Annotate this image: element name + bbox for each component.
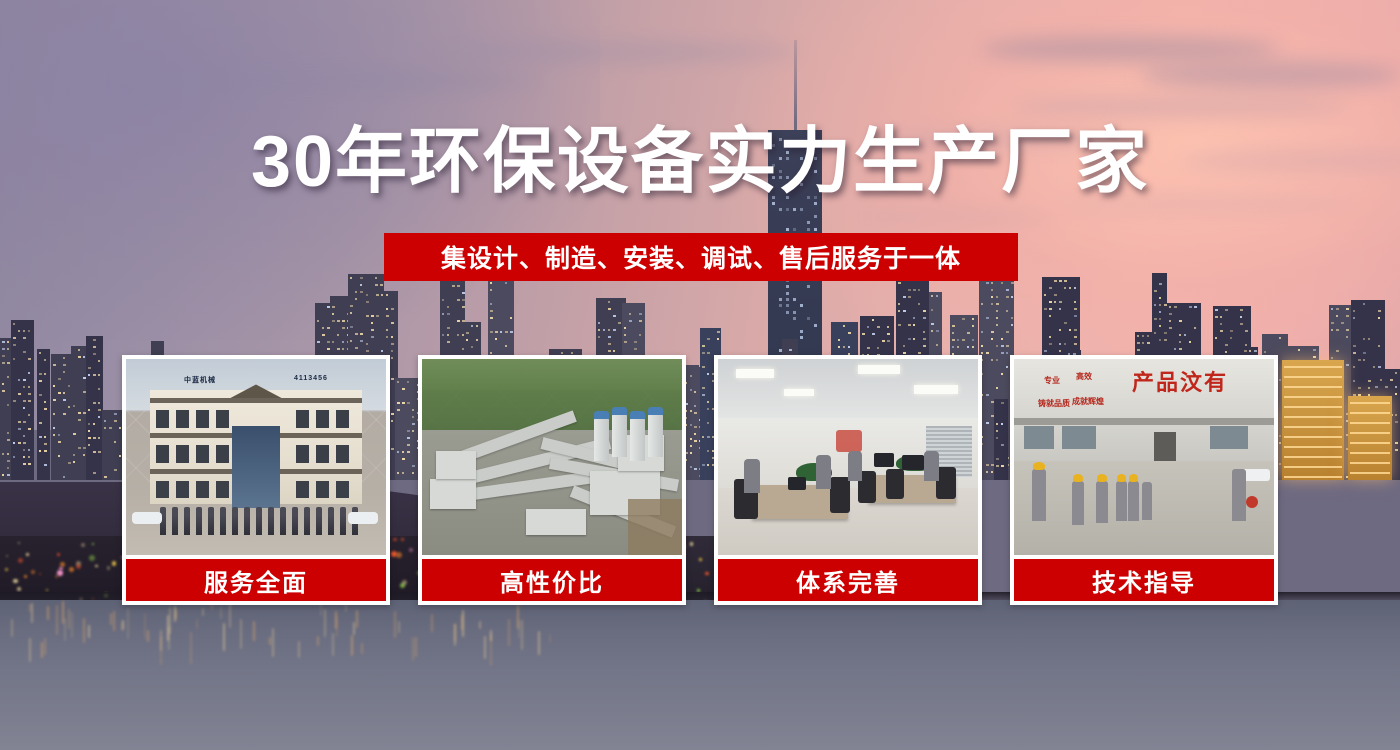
building-window-light [2, 390, 5, 392]
building-window-light [391, 308, 394, 310]
building-window-light [2, 355, 5, 357]
building-window-light [505, 331, 508, 333]
building-window-light [1395, 414, 1397, 416]
building-window-light [1006, 352, 1008, 354]
photo-window [216, 481, 229, 499]
photo-silo [630, 417, 645, 461]
building-window-light [23, 456, 25, 458]
photo-factory-sub-slogan: 成就辉煌 [1072, 396, 1104, 407]
photo-glass-entrance [232, 426, 280, 508]
photo-ceiling-light [784, 389, 814, 396]
building-window-light [23, 463, 26, 465]
building-window-light [613, 350, 615, 352]
card-caption-text: 技术指导 [1092, 563, 1196, 598]
building-window-light [53, 427, 55, 429]
building-window-light [1169, 306, 1171, 308]
building-window-light [495, 331, 498, 333]
building-window-light [1336, 350, 1339, 352]
building-window-light [452, 285, 455, 287]
building-window-light [44, 443, 47, 445]
photo-office-worker [924, 451, 939, 481]
photo-monitor [902, 455, 924, 470]
building-window-light [317, 341, 320, 343]
water-reflection [479, 621, 481, 630]
building-window-light [923, 310, 926, 312]
tower-window-light [814, 324, 817, 327]
photo-safety-helmet [1129, 474, 1138, 482]
building-window-light [457, 299, 460, 301]
photo-factory-sub-slogan: 铸就品质 [1038, 398, 1070, 409]
building-window-light [1240, 316, 1242, 318]
building-window-light [848, 332, 851, 334]
tower-window-light [807, 221, 810, 224]
water-reflection [240, 619, 242, 649]
building-window-light [843, 346, 845, 348]
photo-window [336, 445, 349, 463]
building-window-light [1074, 343, 1077, 345]
photo-window [316, 481, 329, 499]
facade-light-strip [1284, 386, 1342, 388]
building-window-light [490, 331, 493, 333]
photo-factory-window [1024, 426, 1054, 450]
building-window-light [898, 303, 900, 305]
building-window-light [1353, 352, 1356, 354]
building-window-light [39, 450, 41, 452]
building-window-light [7, 460, 10, 462]
building-window-light [23, 407, 25, 409]
water-reflection [68, 609, 70, 629]
photo-staff-person [316, 507, 322, 535]
building-window-light [898, 324, 901, 326]
building-window-light [1378, 366, 1381, 368]
building-window-light [867, 347, 870, 349]
photo-plant-building [430, 479, 476, 509]
building-window-light [350, 277, 352, 279]
building-window-light [7, 432, 9, 434]
building-window-light [63, 476, 65, 478]
building-window-light [28, 449, 30, 451]
building-window-light [1174, 348, 1176, 350]
building-window-light [28, 358, 31, 360]
tower-window-light [786, 311, 789, 314]
building-window-light [1336, 308, 1339, 310]
building-window-light [342, 348, 344, 350]
building-window-light [13, 400, 16, 402]
tower-window-light [814, 202, 817, 205]
building-window-light [39, 422, 42, 424]
photo-window [196, 445, 209, 463]
building-window-light [350, 312, 352, 314]
building-window-light [83, 454, 85, 456]
building-window-light [63, 357, 65, 359]
building-window-light [391, 343, 394, 345]
photo-silo-cap [594, 411, 609, 419]
illuminated-building [1348, 396, 1392, 480]
building-window-light [1194, 306, 1197, 308]
building-window-light [1380, 379, 1382, 381]
photo-staff-person [328, 507, 334, 535]
facade-light-strip [1350, 412, 1390, 414]
building-window-light [981, 345, 983, 347]
photo-safety-helmet [1033, 462, 1045, 470]
building-window-light [1059, 343, 1061, 345]
building-window-light [972, 325, 974, 327]
tree-light [95, 565, 98, 568]
building-window-light [972, 346, 974, 348]
facade-light-strip [1350, 422, 1390, 424]
building-window-light [442, 313, 444, 315]
building-window-light [608, 301, 610, 303]
building-window-light [39, 352, 41, 354]
building-window-light [13, 456, 15, 458]
building-window-light [2, 474, 4, 476]
building-window-light [1279, 337, 1281, 339]
building-window-light [1194, 327, 1196, 329]
building-window-light [44, 464, 47, 466]
facade-light-strip [1350, 432, 1390, 434]
building-window-light [1074, 336, 1077, 338]
building-window-light [1395, 421, 1398, 423]
photo-window [156, 445, 169, 463]
photo-monitor [874, 453, 894, 467]
water-reflection [121, 622, 123, 631]
building-window-light [1363, 352, 1366, 354]
building-window-light [972, 339, 974, 341]
building-window-light [7, 467, 9, 469]
water-reflection [517, 605, 519, 628]
building-window-light [457, 285, 460, 287]
facade-light-strip [1284, 466, 1342, 468]
building-window-light [1331, 308, 1333, 310]
tower-window-light [814, 215, 817, 218]
building-window-light [391, 350, 393, 352]
building-window-light [789, 349, 792, 351]
facade-light-strip [1284, 406, 1342, 408]
building-window-light [360, 277, 363, 279]
building-window-light [337, 320, 340, 322]
building-window-light [23, 379, 26, 381]
building-window-light [1137, 335, 1139, 337]
building-window-light [629, 320, 632, 322]
photo-staff-person [304, 507, 310, 535]
feature-card[interactable]: 体系完善 [714, 355, 982, 605]
building-window-light [510, 331, 513, 333]
building-window-light [28, 330, 30, 332]
building-window-light [53, 364, 56, 366]
tree-light [46, 589, 48, 591]
building-window-light [981, 331, 983, 333]
building-window-light [332, 306, 335, 308]
photo-window [336, 481, 349, 499]
water-reflection [56, 605, 58, 635]
photo-factory-window [1210, 426, 1248, 450]
water-reflection [415, 637, 417, 657]
building-window-light [887, 333, 890, 335]
building-window-light [39, 380, 42, 382]
water-reflection [202, 608, 204, 616]
building-window-light [98, 360, 100, 362]
building-window-light [366, 294, 368, 296]
photo-staff-person [208, 507, 214, 535]
building-window-light [1373, 366, 1375, 368]
photo-staff-person [220, 507, 226, 535]
water-reflection [317, 636, 319, 646]
building-window-light [1006, 289, 1009, 291]
building-window-light [923, 317, 926, 319]
building-window-light [93, 437, 96, 439]
building-window-light [505, 345, 507, 347]
building-window-light [366, 301, 369, 303]
building-window-light [44, 450, 47, 452]
building-window-light [88, 430, 90, 432]
building-window-light [93, 374, 96, 376]
feature-card[interactable]: 中蓝机械4113456 服务全面 [122, 355, 390, 605]
photo-staff-person [280, 507, 286, 535]
building-window-light [1368, 338, 1370, 340]
tower-window-light [786, 228, 789, 231]
building-window-light [28, 456, 30, 458]
building-window-light [838, 339, 840, 341]
water-reflection [549, 634, 551, 643]
building-window-light [23, 421, 26, 423]
building-window-light [13, 442, 15, 444]
skyline-building [86, 336, 103, 480]
water-reflection [462, 610, 464, 637]
building-window-light [1385, 386, 1388, 388]
water-reflection [62, 601, 64, 624]
building-window-light [639, 313, 642, 315]
building-window-light [996, 345, 998, 347]
building-window-light [471, 346, 473, 348]
building-window-light [476, 339, 478, 341]
building-window-light [1378, 345, 1380, 347]
building-window-light [58, 455, 60, 457]
photo-ceiling-light [858, 365, 900, 374]
photo-company-sign: 中蓝机械 [184, 375, 216, 385]
building-window-light [1215, 316, 1218, 318]
tree-light [57, 553, 60, 556]
water-reflection [147, 630, 149, 642]
building-window-light [1179, 341, 1181, 343]
building-window-light [702, 352, 705, 354]
building-window-light [1298, 349, 1300, 351]
feature-card-list: 中蓝机械4113456 服务全面 高性价比 体系完善 [122, 355, 1278, 605]
cloud [980, 36, 1280, 62]
photo-window [196, 481, 209, 499]
building-window-light [78, 356, 81, 358]
facade-light-strip [1350, 402, 1390, 404]
building-window-light [391, 322, 394, 324]
building-window-light [1179, 320, 1182, 322]
subtitle-text: 集设计、制造、安装、调试、售后服务于一体 [441, 239, 961, 275]
building-window-light [996, 324, 998, 326]
skyline-building [37, 349, 50, 480]
building-window-light [7, 341, 9, 343]
building-window-light [500, 331, 502, 333]
building-window-light [1069, 329, 1071, 331]
building-window-light [1313, 349, 1316, 351]
cloud [120, 70, 540, 92]
building-window-light [371, 329, 374, 331]
building-window-light [63, 392, 65, 394]
water-reflection [47, 606, 49, 621]
building-window-light [490, 310, 493, 312]
photo-worker [1232, 469, 1246, 521]
building-window-light [1395, 442, 1398, 444]
water-reflection [484, 636, 486, 658]
building-window-light [386, 315, 389, 317]
building-window-light [936, 295, 938, 297]
building-window-light [1368, 380, 1371, 382]
building-window-light [1001, 282, 1003, 284]
tree-light [112, 561, 117, 566]
building-window-light [1240, 309, 1243, 311]
building-window-light [887, 326, 889, 328]
water-reflection [41, 642, 43, 658]
building-window-light [1358, 359, 1361, 361]
building-window-light [1059, 280, 1062, 282]
water-reflection [272, 628, 274, 658]
building-window-light [991, 296, 993, 298]
building-window-light [386, 336, 388, 338]
tree-light [6, 555, 8, 557]
building-window-light [991, 338, 993, 340]
building-window-light [702, 345, 705, 347]
cloud [860, 210, 1060, 224]
building-window-light [1147, 342, 1150, 344]
building-window-light [18, 421, 21, 423]
water-reflection [431, 614, 433, 632]
tree-light [5, 568, 8, 571]
water-reflection [508, 619, 510, 646]
building-window-light [1245, 330, 1248, 332]
building-window-light [23, 449, 25, 451]
building-window-light [98, 451, 101, 453]
building-window-light [1363, 303, 1365, 305]
building-window-light [1363, 338, 1365, 340]
building-window-light [1054, 280, 1057, 282]
water-reflection [332, 633, 334, 656]
building-window-light [1137, 342, 1140, 344]
water-reflection [298, 641, 300, 658]
building-window-light [1169, 327, 1172, 329]
photo-window [316, 410, 329, 428]
building-window-light [1378, 317, 1380, 319]
photo-safety-helmet [1097, 474, 1107, 482]
building-window-light [1220, 323, 1222, 325]
water-reflection [174, 606, 176, 622]
building-window-light [1154, 332, 1156, 334]
building-window-light [1230, 330, 1233, 332]
photo-plant-building [436, 451, 476, 479]
building-window-light [1011, 324, 1013, 326]
building-window-light [114, 420, 117, 422]
building-window-light [1159, 318, 1161, 320]
building-window-light [391, 336, 393, 338]
building-window-light [1184, 334, 1186, 336]
photo-window [156, 410, 169, 428]
building-window-light [608, 350, 611, 352]
building-window-light [44, 408, 47, 410]
feature-card[interactable]: 产品汶有专业高效铸就品质成就辉煌 技术指导 [1010, 355, 1278, 605]
building-window-light [1313, 356, 1316, 358]
water-reflection [394, 611, 396, 638]
tree-light [76, 564, 81, 569]
hero-banner: 30年环保设备实力生产厂家 集设计、制造、安装、调试、售后服务于一体 中蓝机械4… [0, 0, 1400, 750]
water-reflection [454, 624, 456, 646]
facade-light-strip [1350, 472, 1390, 474]
building-window-light [1069, 287, 1071, 289]
water-reflection [11, 619, 13, 638]
building-window-light [317, 320, 319, 322]
building-window-light [986, 317, 989, 319]
building-window-light [1074, 287, 1076, 289]
photo-staff-person [292, 507, 298, 535]
water-reflection [490, 635, 492, 666]
photo-window [216, 410, 229, 428]
building-window-light [114, 469, 117, 471]
building-window-light [931, 309, 933, 311]
building-window-light [332, 341, 334, 343]
building-window-light [843, 325, 845, 327]
building-window-light [962, 318, 965, 320]
building-window-light [73, 405, 75, 407]
water-reflection [361, 643, 363, 654]
card-photo-office-interior [718, 359, 978, 555]
building-window-light [18, 393, 21, 395]
building-window-light [462, 292, 465, 294]
feature-card[interactable]: 高性价比 [418, 355, 686, 605]
building-window-light [23, 400, 26, 402]
building-window-light [1001, 352, 1004, 354]
building-window-light [104, 476, 107, 478]
tree-light [81, 543, 85, 547]
facade-light-strip [1350, 442, 1390, 444]
building-window-light [624, 327, 626, 329]
building-window-light [1346, 336, 1348, 338]
water-reflection [196, 619, 198, 629]
tree-light [18, 542, 20, 544]
water-reflection [335, 611, 337, 629]
water-reflection [353, 622, 355, 635]
water-reflection [127, 608, 129, 639]
building-window-light [571, 352, 573, 354]
building-window-light [88, 444, 90, 446]
card-caption-text: 高性价比 [500, 563, 604, 598]
building-window-light [88, 409, 90, 411]
photo-staff-person [268, 507, 274, 535]
building-window-light [1074, 329, 1077, 331]
building-window-light [371, 322, 373, 324]
card-caption-bar: 体系完善 [718, 559, 978, 601]
tower-window-light [779, 208, 782, 211]
building-window-light [342, 341, 344, 343]
building-window-light [1154, 290, 1157, 292]
building-window-light [360, 284, 362, 286]
page-title: 30年环保设备实力生产厂家 [0, 126, 1400, 198]
water-reflection [190, 632, 192, 663]
building-window-light [862, 333, 865, 335]
photo-safety-helmet [1117, 474, 1126, 482]
building-window-light [991, 303, 993, 305]
photo-plant-building [526, 509, 586, 535]
tree-light [69, 567, 74, 572]
building-window-light [7, 439, 10, 441]
photo-worker [1032, 469, 1046, 521]
building-window-light [371, 336, 374, 338]
card-caption-text: 体系完善 [796, 563, 900, 598]
tree-light [18, 558, 23, 563]
